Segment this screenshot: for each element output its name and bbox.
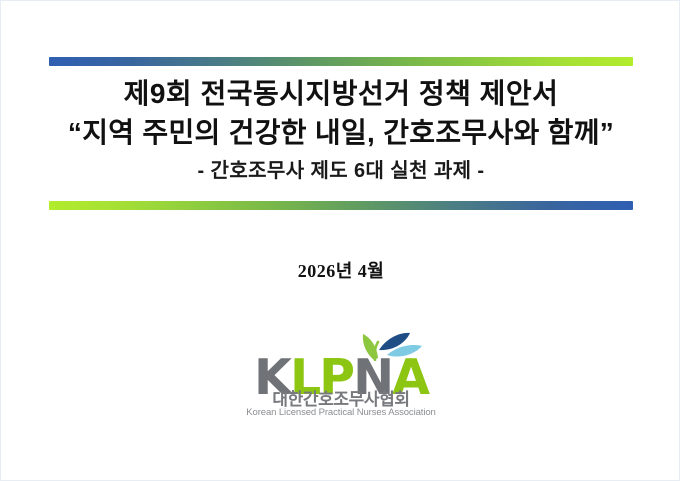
presentation-date: 2026년 4월 [1, 257, 680, 283]
presentation-title-slide: 제9회 전국동시지방선거 정책 제안서 “지역 주민의 건강한 내일, 간호조무… [0, 0, 680, 481]
title-line-slogan: “지역 주민의 건강한 내일, 간호조무사와 함께” [1, 113, 680, 153]
organization-logo: KLPNA 대한간호조무사협회 Korean Licensed Practica… [1, 327, 680, 440]
logo-inner: KLPNA 대한간호조무사협회 Korean Licensed Practica… [246, 327, 436, 435]
title-line-subtitle: - 간호조무사 제도 6대 실천 과제 - [1, 155, 680, 187]
title-line-primary: 제9회 전국동시지방선거 정책 제안서 [1, 75, 680, 113]
top-gradient-rule [49, 57, 633, 66]
bottom-gradient-rule [49, 201, 633, 210]
title-block: 제9회 전국동시지방선거 정책 제안서 “지역 주민의 건강한 내일, 간호조무… [1, 75, 680, 187]
logo-organization-name-en: Korean Licensed Practical Nurses Associa… [246, 407, 436, 418]
